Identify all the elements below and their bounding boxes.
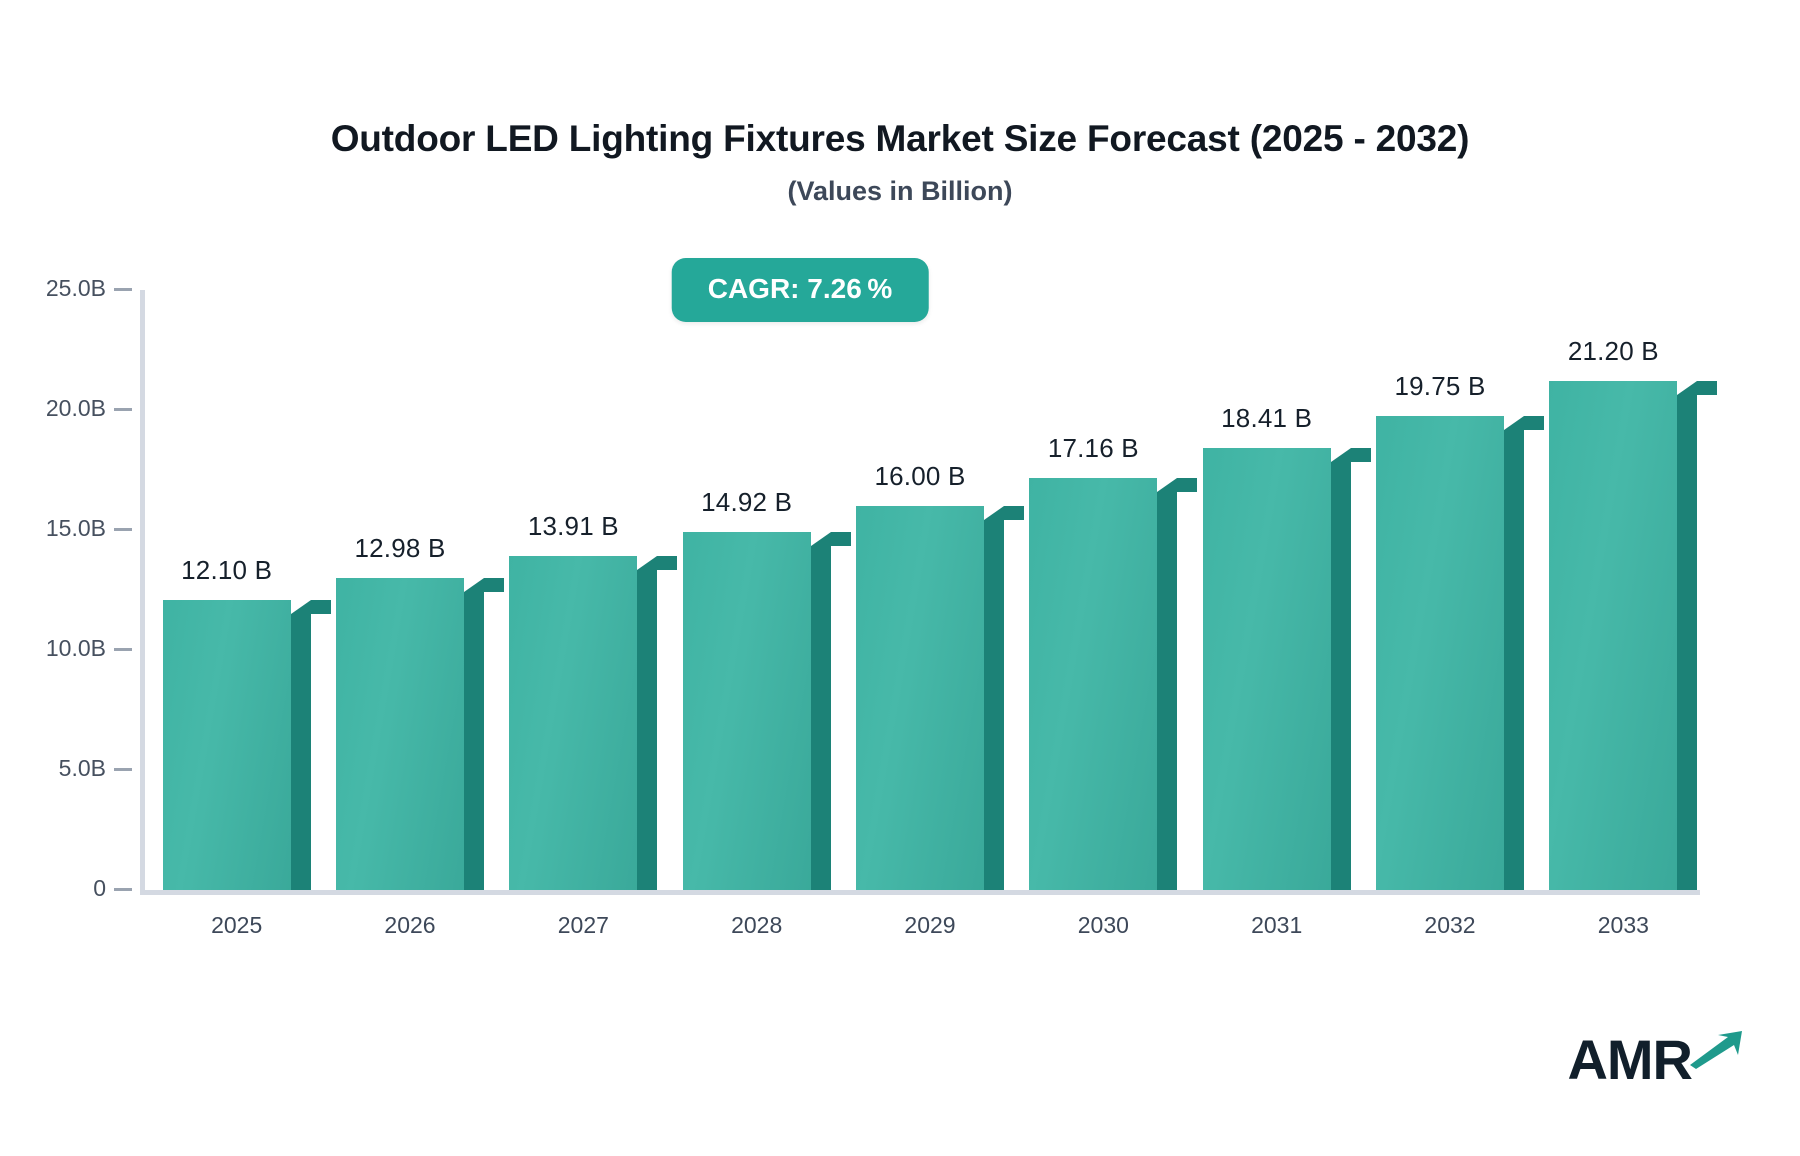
x-axis-label: 2028 <box>731 912 782 939</box>
bar-side-face <box>1677 395 1697 890</box>
bar-front-face <box>1376 416 1504 890</box>
bar[interactable]: 16.00 B <box>856 506 984 890</box>
bar-front-face <box>856 506 984 890</box>
y-axis-tick-label: 10.0B <box>46 635 106 662</box>
bar-top-face <box>1157 478 1197 492</box>
bar[interactable]: 18.41 B <box>1203 448 1331 890</box>
x-axis-label: 2029 <box>904 912 955 939</box>
bar-value-label: 13.91 B <box>528 511 619 542</box>
bar-value-label: 14.92 B <box>701 487 792 518</box>
bar-value-label: 12.10 B <box>181 555 272 586</box>
bar-top-face <box>1331 448 1371 462</box>
x-axis-label: 2031 <box>1251 912 1302 939</box>
bar-top-face <box>637 556 677 570</box>
bar-side-face <box>1504 430 1524 890</box>
x-axis-label: 2027 <box>558 912 609 939</box>
bar-value-label: 21.20 B <box>1568 336 1659 367</box>
y-axis-tick-label: 15.0B <box>46 515 106 542</box>
y-axis-tick-label: 25.0B <box>46 275 106 302</box>
bar-front-face <box>683 532 811 890</box>
bar[interactable]: 13.91 B <box>509 556 637 890</box>
x-axis-label: 2030 <box>1078 912 1129 939</box>
bar-front-face <box>163 600 291 890</box>
bar-front-face <box>1549 381 1677 890</box>
x-axis-label: 2026 <box>384 912 435 939</box>
page-title: Outdoor LED Lighting Fixtures Market Siz… <box>0 118 1800 160</box>
amr-logo-text: AMR <box>1567 1032 1692 1088</box>
bar-value-label: 19.75 B <box>1394 371 1485 402</box>
y-axis-tick-label: 5.0B <box>59 755 106 782</box>
bar-front-face <box>1203 448 1331 890</box>
chart-subtitle: (Values in Billion) <box>0 176 1800 207</box>
y-axis-tick-mark <box>114 528 132 531</box>
y-axis-tick-mark <box>114 648 132 651</box>
y-axis-tick-mark <box>114 768 132 771</box>
bar-top-face <box>291 600 331 614</box>
bar-side-face <box>291 614 311 890</box>
bar-top-face <box>984 506 1024 520</box>
chart-plot-area: 05.0B10.0B15.0B20.0B25.0B 12.10 B12.98 B… <box>140 290 1700 890</box>
bar-side-face <box>1157 492 1177 890</box>
bar-side-face <box>637 570 657 890</box>
y-axis-spine <box>140 290 145 890</box>
x-axis-spine <box>140 890 1700 895</box>
x-axis-label: 2025 <box>211 912 262 939</box>
bar-front-face <box>509 556 637 890</box>
y-axis-tick-label: 0 <box>93 875 106 902</box>
y-axis-tick-mark <box>114 288 132 291</box>
y-axis-tick-mark <box>114 888 132 891</box>
bar[interactable]: 17.16 B <box>1029 478 1157 890</box>
bar-value-label: 18.41 B <box>1221 403 1312 434</box>
bar-front-face <box>336 578 464 890</box>
y-axis-tick-mark <box>114 408 132 411</box>
bar-side-face <box>464 592 484 890</box>
bar[interactable]: 12.10 B <box>163 600 291 890</box>
bar-top-face <box>464 578 504 592</box>
growth-arrow-icon <box>1688 1029 1744 1074</box>
bar[interactable]: 21.20 B <box>1549 381 1677 890</box>
bar-value-label: 12.98 B <box>354 533 445 564</box>
bar-value-label: 17.16 B <box>1048 433 1139 464</box>
x-axis-label: 2032 <box>1424 912 1475 939</box>
bar-front-face <box>1029 478 1157 890</box>
bar[interactable]: 14.92 B <box>683 532 811 890</box>
bar-side-face <box>811 546 831 890</box>
x-axis-label: 2033 <box>1598 912 1649 939</box>
y-axis-tick-label: 20.0B <box>46 395 106 422</box>
bar-value-label: 16.00 B <box>874 461 965 492</box>
bar-side-face <box>1331 462 1351 890</box>
bar-top-face <box>1677 381 1717 395</box>
amr-logo: AMR <box>1567 1029 1744 1090</box>
bar[interactable]: 19.75 B <box>1376 416 1504 890</box>
bar[interactable]: 12.98 B <box>336 578 464 890</box>
bar-top-face <box>1504 416 1544 430</box>
bar-top-face <box>811 532 851 546</box>
bar-side-face <box>984 520 1004 890</box>
